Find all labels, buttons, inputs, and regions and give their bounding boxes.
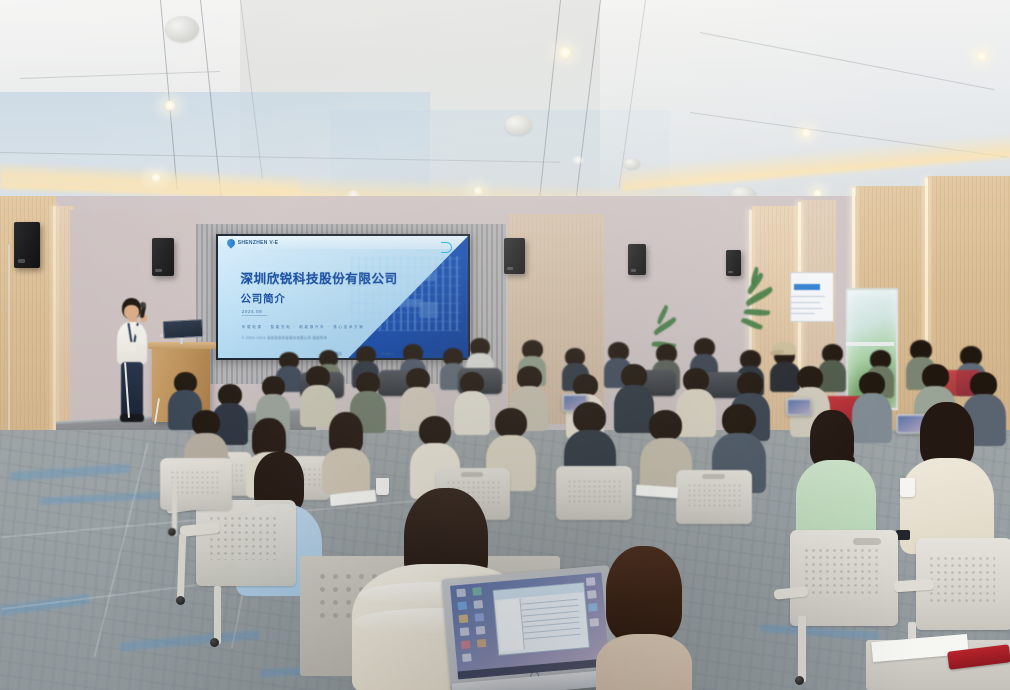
presenter-shoes [120, 414, 144, 422]
slide-title: 深圳欣锐科技股份有限公司 [241, 268, 398, 287]
presentation-slide: SHENZHEN V-E 深圳欣锐科技股份有限公司 公司简介 2024.08 车… [218, 236, 468, 358]
wall-speaker-icon [152, 238, 174, 276]
chair [916, 538, 1010, 630]
long-hair [606, 546, 682, 642]
logo-mark-icon [225, 238, 236, 249]
chair-caster [795, 676, 804, 685]
chair-caster [176, 596, 185, 605]
slide-keywords: 车载电源 · 智能充电 · 新能源汽车 · 核心技术方案 [242, 325, 365, 330]
window-mullion [846, 342, 894, 346]
chair-caster [168, 528, 176, 536]
chair [196, 500, 296, 586]
slide-date: 2024.08 [242, 309, 262, 314]
audience-member-cream-top [900, 402, 994, 552]
wall-speaker-icon [628, 244, 646, 275]
audience-member-edge [596, 546, 692, 690]
company-logo: SHENZHEN V-E [227, 239, 279, 247]
confidence-monitor [163, 319, 204, 339]
potted-plant [736, 278, 782, 338]
presenter [110, 298, 156, 426]
audience-member [322, 412, 370, 486]
chair [556, 466, 632, 520]
slide-nav-item: 技术实力 [381, 351, 395, 356]
chair [676, 470, 752, 524]
slide-copyright: © 2003-2024 深圳欣锐科技股份有限公司 版权所有 [242, 335, 328, 340]
microphone-head-icon [140, 302, 146, 308]
audience-member-mint-top [796, 410, 876, 540]
chair [160, 458, 232, 510]
chair-leg [798, 616, 806, 682]
chair-caster [210, 638, 219, 647]
open-application-window [493, 582, 590, 656]
chair [790, 530, 898, 626]
badge [129, 342, 136, 351]
smartwatch [896, 530, 910, 540]
slide-corner-accent-icon [441, 242, 452, 253]
wall-speaker-icon [726, 250, 741, 276]
laptop-screen [450, 573, 610, 680]
wall-speaker-icon [504, 238, 525, 274]
ceiling-speaker-icon [165, 16, 199, 42]
chair-leg [214, 586, 221, 644]
wall-speaker-icon [14, 222, 40, 268]
slide-subtitle: 公司简介 [241, 291, 286, 306]
paper-cup [900, 478, 915, 497]
wall-notice-poster [790, 272, 834, 322]
cable [8, 244, 10, 458]
logo-text: SHENZHEN V-E [238, 240, 279, 246]
projector-screen: SHENZHEN V-E 深圳欣锐科技股份有限公司 公司简介 2024.08 车… [216, 234, 470, 360]
conference-room-photo: SHENZHEN V-E 深圳欣锐科技股份有限公司 公司简介 2024.08 车… [0, 0, 1010, 690]
smoke-detector-icon [624, 158, 640, 169]
ceiling-speaker-icon [505, 115, 532, 135]
